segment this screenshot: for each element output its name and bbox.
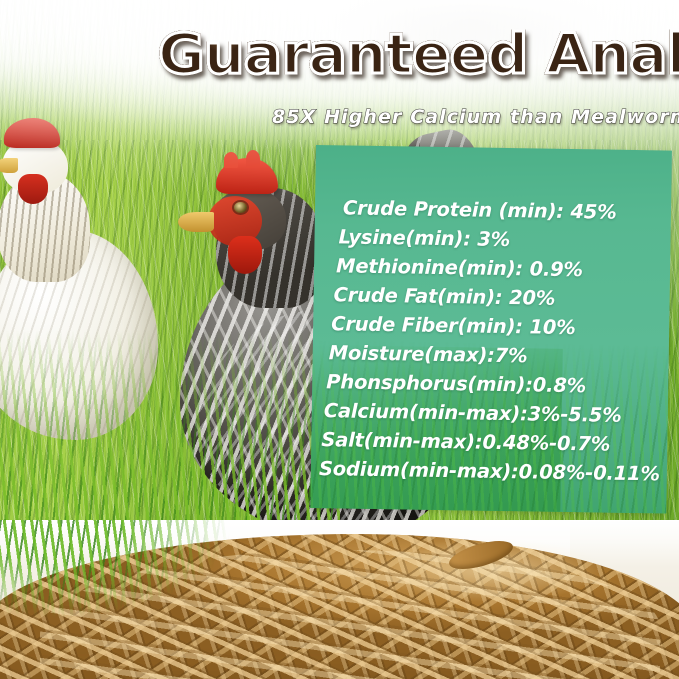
page-title: Guaranteed Analysis <box>158 24 679 86</box>
product-infographic: Guaranteed Analysis Guaranteed Analysis … <box>0 0 679 679</box>
nutrition-list: Crude Protein (min): 45% Lysine(min): 3%… <box>310 145 672 514</box>
larvae-foreground-grass <box>0 520 230 630</box>
guaranteed-analysis-panel: Crude Protein (min): 45% Lysine(min): 3%… <box>310 145 672 514</box>
page-subtitle: 85X Higher Calcium than Mealworms <box>272 104 672 132</box>
list-item: Sodium(min-max):0.08%-0.11% <box>311 454 667 489</box>
larvae-pile-photo <box>0 520 679 679</box>
